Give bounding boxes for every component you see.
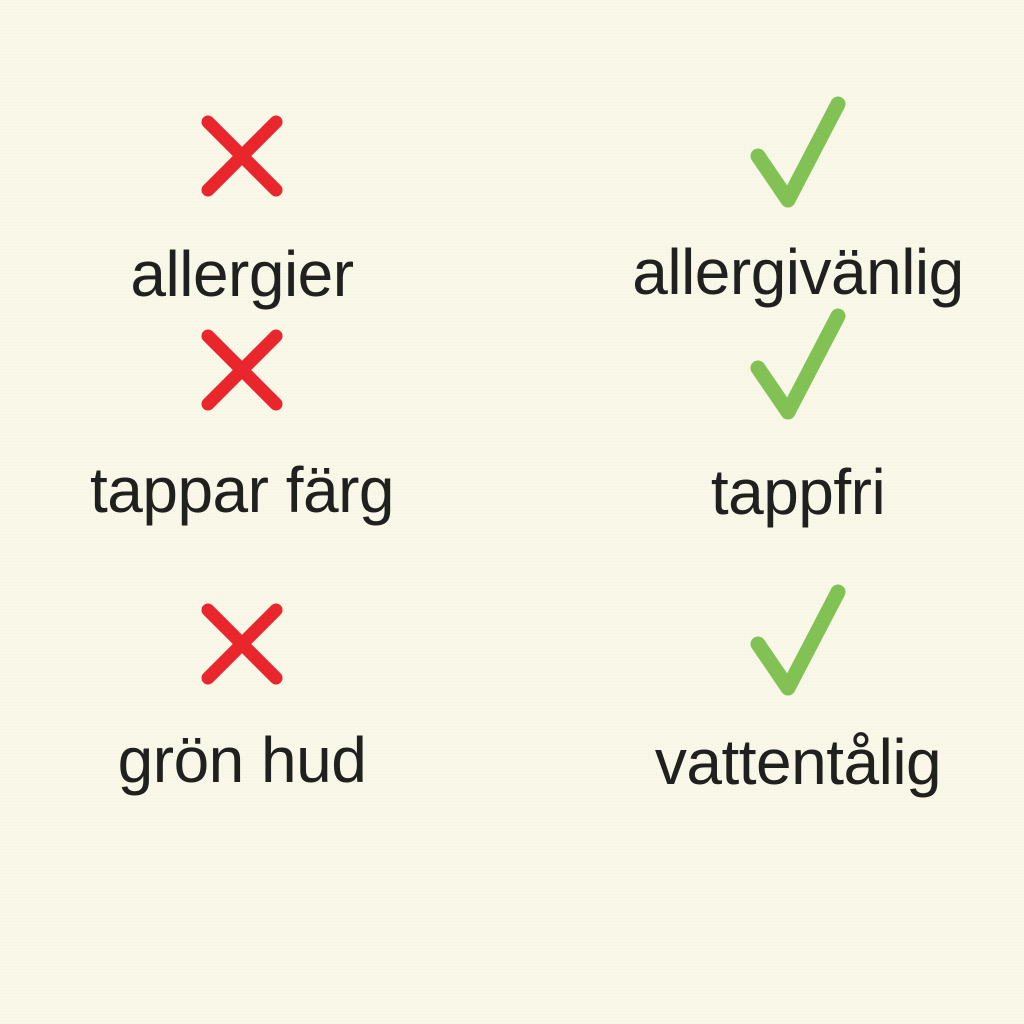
cross-icon — [194, 322, 290, 418]
comparison-label: allergivänlig — [632, 240, 963, 304]
comparison-graphic: allergier allergivänlig tappar färg — [0, 0, 1024, 1024]
comparison-item-positive-2: tappfri — [542, 300, 1024, 570]
comparison-item-positive-3: vattentålig — [542, 570, 1024, 830]
check-icon — [746, 308, 850, 420]
comparison-label: tappfri — [711, 460, 885, 524]
check-icon — [746, 584, 850, 696]
comparison-item-negative-1: allergier — [0, 0, 498, 300]
comparison-label: grön hud — [118, 728, 367, 792]
cross-icon — [194, 108, 290, 204]
comparison-label: allergier — [130, 242, 353, 306]
comparison-item-negative-3: grön hud — [0, 570, 498, 830]
comparison-grid: allergier allergivänlig tappar färg — [0, 0, 1024, 900]
comparison-label: tappar färg — [90, 458, 394, 522]
cross-icon — [194, 596, 290, 692]
comparison-item-negative-2: tappar färg — [0, 300, 498, 570]
check-icon — [746, 96, 850, 208]
comparison-label: vattentålig — [655, 730, 941, 794]
comparison-item-positive-1: allergivänlig — [542, 0, 1024, 300]
